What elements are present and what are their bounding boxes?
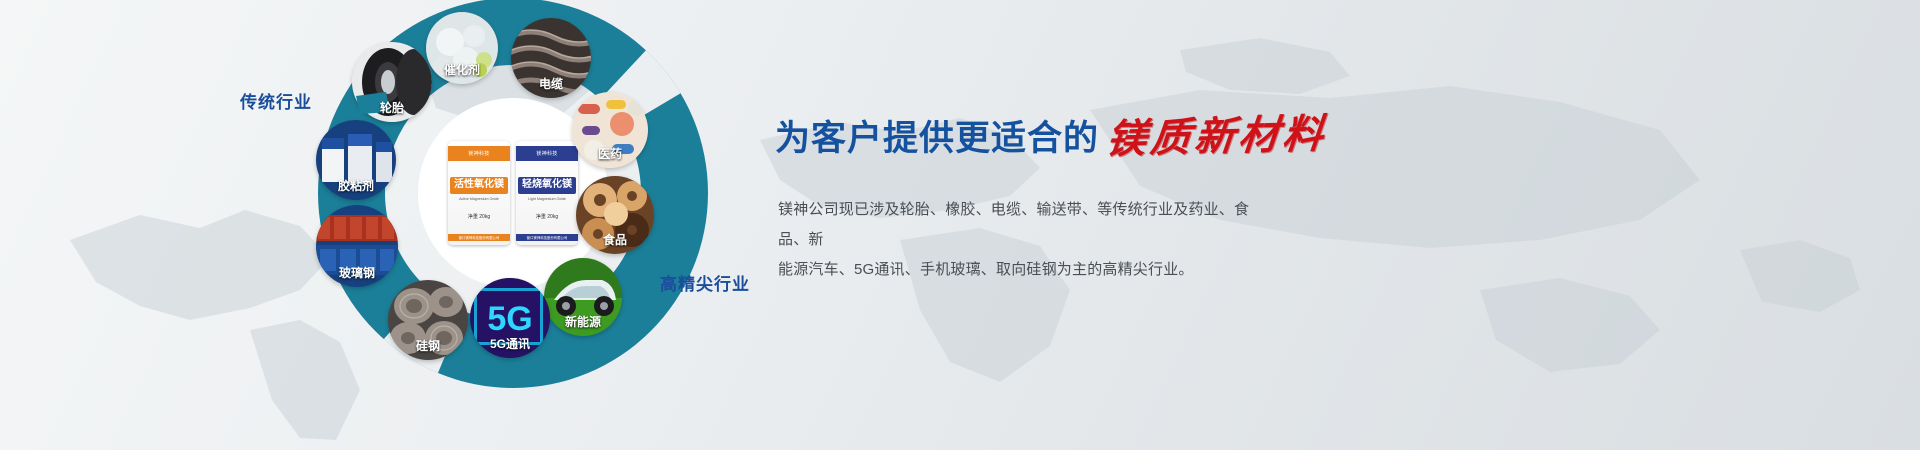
node-label-tire: 轮胎 <box>352 102 432 122</box>
description-line-2: 能源汽车、5G通讯、手机玻璃、取向硅钢为主的高精尖行业。 <box>778 255 1278 285</box>
node-food[interactable]: 食品 <box>576 176 654 254</box>
product-name-en-b: Light Magnesium Oxide <box>528 197 566 201</box>
headline-blue-text: 为客户提供更适合的 <box>775 110 1099 161</box>
industry-circle-diagram: 镁神科技 活性氧化镁 Active Magnesium Oxide 净重 20k… <box>300 0 820 450</box>
product-footer-a: 营口镁神科技股份有限公司 <box>448 234 510 241</box>
node-label-cable: 电缆 <box>511 78 591 98</box>
headline: 为客户提供更适合的 镁质新材料 <box>775 104 1327 162</box>
product-brand-a: 镁神科技 <box>448 146 510 161</box>
node-catalyst[interactable]: 催化剂 <box>426 12 498 84</box>
node-new-energy[interactable]: 新能源 <box>544 258 622 336</box>
marketing-copy: 为客户提供更适合的 镁质新材料 镁神公司现已涉及轮胎、橡胶、电缆、输送带、等传统… <box>775 0 1875 450</box>
section-label-traditional: 传统行业 <box>240 88 312 113</box>
node-five-g[interactable]: 5G 5G通讯 <box>470 278 550 358</box>
product-brand-b: 镁神科技 <box>516 146 578 161</box>
node-label-adhesive: 胶粘剂 <box>316 180 396 200</box>
node-label-food: 食品 <box>576 234 654 254</box>
section-label-advanced: 高精尖行业 <box>660 270 750 295</box>
product-name-a: 活性氧化镁 <box>450 177 508 194</box>
node-label-fiberglass: 玻璃钢 <box>316 267 398 287</box>
node-pharmaceutical[interactable]: 医药 <box>572 92 648 168</box>
node-silicon-steel[interactable]: 硅钢 <box>388 280 468 360</box>
node-tire[interactable]: 轮胎 <box>352 42 432 122</box>
product-weight-b: 净重 20kg <box>536 213 558 220</box>
product-bag-light-mgo: 镁神科技 轻烧氧化镁 Light Magnesium Oxide 净重 20kg… <box>516 141 578 245</box>
node-adhesive[interactable]: 胶粘剂 <box>316 120 396 200</box>
node-label-catalyst: 催化剂 <box>426 64 498 84</box>
node-label-five-g: 5G通讯 <box>470 338 550 358</box>
product-name-en-a: Active Magnesium Oxide <box>459 197 499 201</box>
node-cable[interactable]: 电缆 <box>511 18 591 98</box>
node-label-pharmaceutical: 医药 <box>572 148 648 168</box>
description-line-1: 镁神公司现已涉及轮胎、橡胶、电缆、输送带、等传统行业及药业、食品、新 <box>778 195 1278 255</box>
headline-red-text: 镁质新材料 <box>1104 101 1330 165</box>
description-paragraph: 镁神公司现已涉及轮胎、橡胶、电缆、输送带、等传统行业及药业、食品、新 能源汽车、… <box>778 195 1278 285</box>
product-footer-b: 营口镁神科技股份有限公司 <box>516 234 578 241</box>
product-bag-active-mgo: 镁神科技 活性氧化镁 Active Magnesium Oxide 净重 20k… <box>448 141 510 245</box>
svg-text:5G: 5G <box>487 300 532 338</box>
product-weight-a: 净重 20kg <box>468 213 490 220</box>
product-name-b: 轻烧氧化镁 <box>518 177 576 194</box>
section-label-advanced-text: 高精尖行业 <box>660 275 750 294</box>
node-label-new-energy: 新能源 <box>544 316 622 336</box>
node-fiberglass[interactable]: 玻璃钢 <box>316 205 398 287</box>
node-label-silicon-steel: 硅钢 <box>388 340 468 360</box>
arrow-advanced-icon <box>626 272 660 294</box>
section-label-traditional-text: 传统行业 <box>240 93 312 112</box>
